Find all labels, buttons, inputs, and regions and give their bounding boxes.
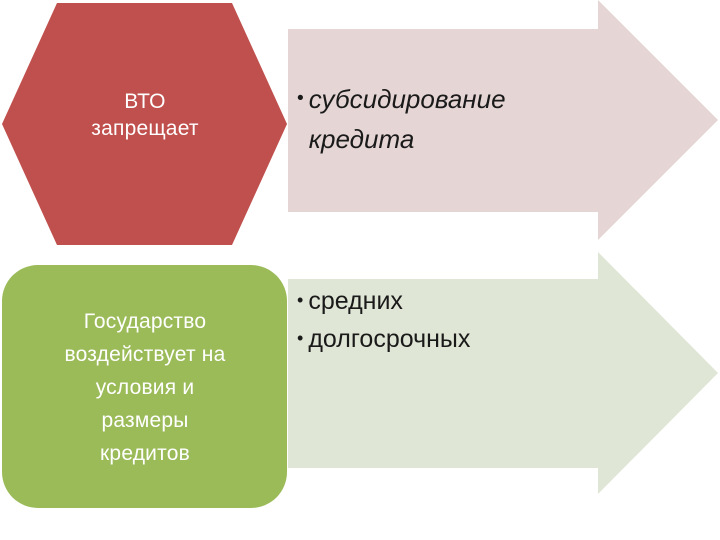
slide-canvas: ВТО запрещает • субсидирование кредита Г… xyxy=(0,0,720,540)
rounded-rect-line-5: кредитов xyxy=(16,437,274,470)
hexagon-text-block: ВТО запрещает xyxy=(30,88,260,142)
bullet-dot-icon: • xyxy=(297,79,309,119)
rounded-rect-line-4: размеры xyxy=(16,404,274,437)
bullet-dot-icon: • xyxy=(297,319,308,357)
bullet-text: средних xyxy=(308,282,597,320)
bullet-item: • субсидирование кредита xyxy=(297,79,597,159)
hexagon-line-2: запрещает xyxy=(30,115,260,142)
rounded-rect-line-3: условия и xyxy=(16,371,274,404)
pink-arrow-text-block: • субсидирование кредита xyxy=(297,79,597,159)
bullet-item: • долгосрочных xyxy=(297,320,597,358)
hexagon-line-1: ВТО xyxy=(30,88,260,115)
bullet-text: субсидирование кредита xyxy=(309,79,597,159)
bullet-item: • средних xyxy=(297,282,597,320)
rounded-rect-text-block: Государство воздействует на условия и ра… xyxy=(16,305,274,470)
bullet-dot-icon: • xyxy=(297,281,308,319)
green-arrow-text-block: • средних • долгосрочных xyxy=(297,282,597,358)
rounded-rect-line-2: воздействует на xyxy=(16,338,274,371)
bullet-text: долгосрочных xyxy=(308,320,597,358)
rounded-rect-line-1: Государство xyxy=(16,305,274,338)
